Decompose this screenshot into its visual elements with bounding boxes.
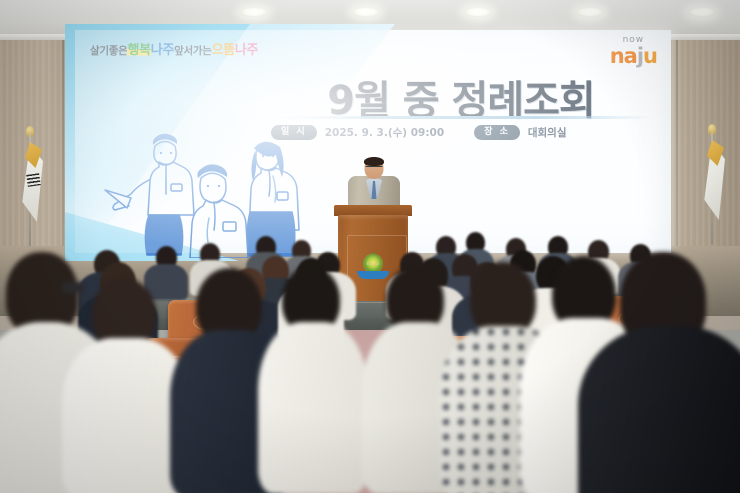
wall-panel-seam [676,40,678,280]
ceiling-downlight [576,8,604,17]
title-underline [271,116,651,119]
speaker-glasses-icon [366,166,383,170]
photo-scene: 살기좋은 행복 나주 앞서가는 으뜸 나주 now naju 9월 중 정례조회… [0,0,740,493]
ceiling-downlight [464,8,492,17]
flag-trigram-bars [26,173,41,187]
audience-torso [578,326,740,493]
slogan-part-6: 나주 [235,39,258,58]
logo-u: u [643,44,657,68]
slogan-part-5: 으뜸 [212,39,235,58]
three-city-workers-line-art-icon [97,118,327,258]
slogan-part-1: 살기좋은 [90,43,127,58]
place-pill-label: 장 소 [474,125,520,140]
korean-national-flag-left [18,126,44,246]
logo-na: na [610,44,637,68]
logo-naju-text: naju [610,46,657,67]
ceiling-downlight [352,8,380,17]
place-value: 대회의실 [528,125,567,140]
ceiling-downlight [240,8,268,17]
ceiling-downlight [688,8,716,17]
speaker-hair [364,157,384,166]
date-value: 2025. 9. 3.(수) 09:00 [325,125,444,140]
eyeglasses-icon [62,282,84,293]
speaker-at-podium [346,157,402,212]
naju-brand-logo: now naju [610,36,657,67]
audience-torso [258,322,368,493]
naju-city-emblem-icon: naju [356,255,390,281]
slide-slogan: 살기좋은 행복 나주 앞서가는 으뜸 나주 [90,39,258,58]
slogan-part-2: 행복 [127,39,150,58]
slogan-part-4: 앞서가는 [174,43,211,58]
slide-info-row: 일 시 2025. 9. 3.(수) 09:00 장 소 대회의실 [271,122,671,142]
city-flag-right [700,124,726,244]
emblem-wordmark: naju [356,261,390,267]
emblem-wave [357,271,389,279]
wall-panel-seam [62,40,64,280]
slogan-part-3: 나주 [151,39,174,58]
